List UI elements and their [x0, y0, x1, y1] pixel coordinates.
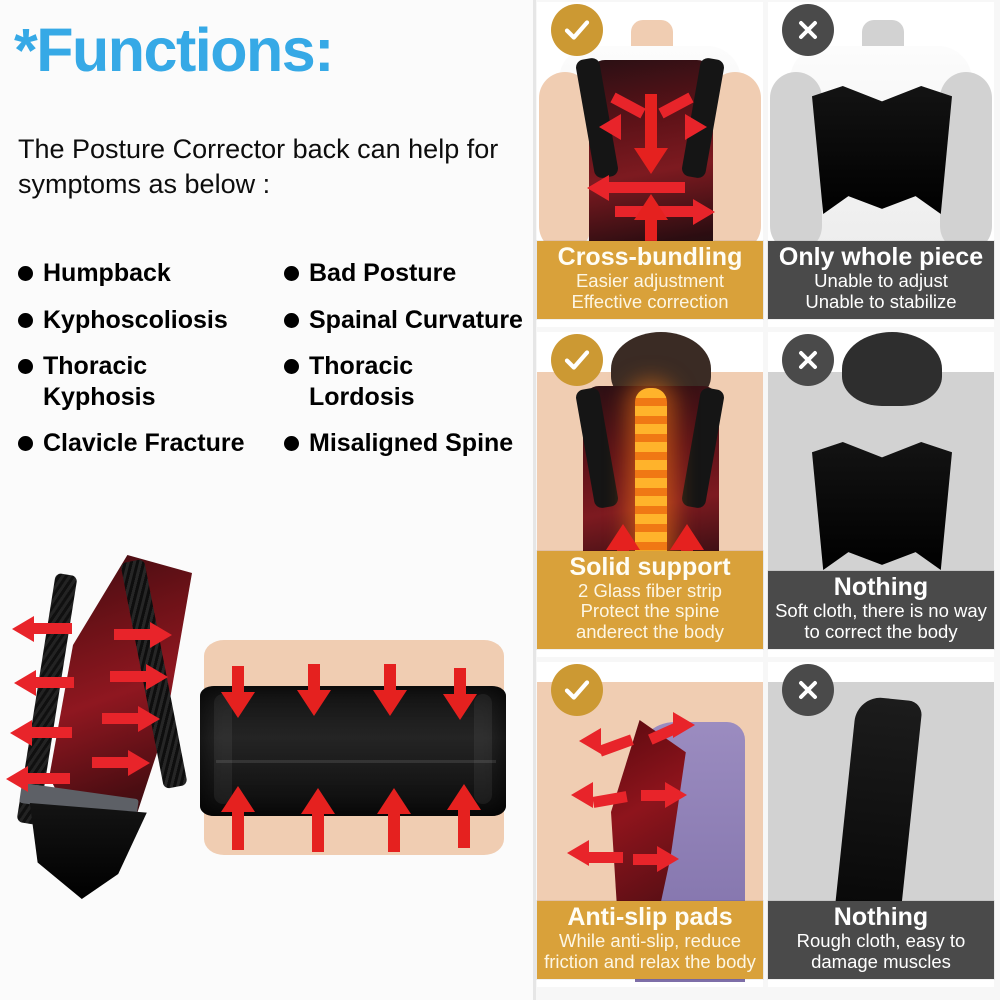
caption-title: Nothing	[774, 574, 988, 601]
caption-bad: Nothing Rough cloth, easy to damage musc…	[768, 901, 994, 979]
force-arrow-down-icon	[221, 692, 255, 718]
comparison-row: Anti-slip pads While anti-slip, reduce f…	[537, 662, 1000, 987]
caption-title: Solid support	[543, 554, 757, 581]
caption-title: Cross-bundling	[543, 244, 757, 271]
belt-seam	[216, 760, 496, 763]
comparison-cell-bad[interactable]: Nothing Rough cloth, easy to damage musc…	[768, 662, 994, 987]
force-arrow-up-icon	[606, 524, 640, 550]
arrow-tail	[645, 94, 657, 156]
symptom-item-clavicle-fracture: Clavicle Fracture	[8, 428, 280, 459]
arrow-tail	[589, 852, 623, 863]
force-arrow-left-icon	[6, 766, 28, 792]
bullet-dot-icon	[284, 266, 299, 281]
symptom-item-thoracic-lordosis: Thoracic Lordosis	[280, 351, 536, 412]
symptom-label: Misaligned Spine	[309, 428, 513, 459]
force-arrow-left-icon	[587, 175, 609, 201]
caption-lines: While anti-slip, reduce friction and rel…	[543, 931, 757, 972]
check-circle-icon	[551, 664, 603, 716]
bullet-dot-icon	[18, 266, 33, 281]
force-arrow-down-icon	[373, 690, 407, 716]
symptom-list: Humpback Bad Posture Kyphoscoliosis Spai…	[8, 258, 536, 459]
caption-good: Cross-bundling Easier adjustment Effecti…	[537, 241, 763, 319]
force-arrow-down-icon	[443, 694, 477, 720]
x-circle-icon	[782, 4, 834, 56]
force-arrow-right-icon	[128, 750, 150, 776]
arrow-tail	[232, 810, 244, 850]
force-arrow-right-icon	[657, 846, 679, 872]
caption-good: Anti-slip pads While anti-slip, reduce f…	[537, 901, 763, 979]
arrow-tail	[458, 808, 470, 848]
symptom-label: Kyphoscoliosis	[43, 305, 228, 336]
force-arrow-up-icon	[221, 786, 255, 812]
force-arrow-left-icon	[567, 840, 589, 866]
force-arrow-up-icon	[670, 524, 704, 550]
force-arrow-left-icon	[14, 670, 36, 696]
caption-title: Anti-slip pads	[543, 904, 757, 931]
caption-title: Nothing	[774, 904, 988, 931]
check-circle-icon	[551, 334, 603, 386]
symptom-label: Clavicle Fracture	[43, 428, 245, 459]
force-arrow-up-icon	[301, 788, 335, 814]
force-arrow-right-icon	[665, 782, 687, 808]
infographic-page: *Functions: The Posture Corrector back c…	[0, 0, 1000, 1000]
soft-cloth-brace-shape	[812, 442, 952, 570]
force-arrow-down-icon	[634, 148, 668, 174]
force-arrow-right-icon	[138, 706, 160, 732]
force-arrow-left-icon	[579, 728, 601, 754]
arrow-tail	[388, 812, 400, 852]
caption-lines: Rough cloth, easy to damage muscles	[774, 931, 988, 972]
column-divider	[533, 0, 536, 1000]
arrow-tail	[609, 182, 685, 193]
comparison-cell-bad[interactable]: Only whole piece Unable to adjust Unable…	[768, 2, 994, 327]
force-arrow-up-icon	[634, 194, 668, 220]
comparison-row: Solid support 2 Glass fiber strip Protec…	[537, 332, 1000, 657]
one-piece-brace-shape	[812, 86, 952, 214]
arrow-tail	[34, 623, 72, 634]
x-circle-icon	[782, 664, 834, 716]
force-arrow-right-icon	[685, 114, 707, 140]
force-arrow-right-icon	[146, 664, 168, 690]
check-circle-icon	[551, 4, 603, 56]
comparison-cell-good[interactable]: Anti-slip pads While anti-slip, reduce f…	[537, 662, 763, 987]
symptom-label: Spainal Curvature	[309, 305, 523, 336]
symptom-item-thoracic-kyphosis: Thoracic Kyphosis	[8, 351, 280, 412]
force-arrow-left-icon	[571, 782, 593, 808]
bullet-dot-icon	[284, 359, 299, 374]
symptom-item-spainal-curvature: Spainal Curvature	[280, 305, 536, 336]
force-arrow-right-icon	[673, 712, 695, 738]
bullet-dot-icon	[284, 436, 299, 451]
product-photo-waist-belt	[196, 640, 516, 855]
symptom-label: Thoracic Kyphosis	[43, 351, 156, 412]
caption-title: Only whole piece	[774, 244, 988, 271]
x-circle-icon	[782, 334, 834, 386]
arrow-tail	[102, 713, 140, 724]
arrow-tail	[114, 629, 152, 640]
caption-lines: Soft cloth, there is no way to correct t…	[774, 601, 988, 642]
symptom-label: Thoracic Lordosis	[309, 351, 415, 412]
caption-good: Solid support 2 Glass fiber strip Protec…	[537, 551, 763, 649]
subtitle-text: The Posture Corrector back can help for …	[18, 132, 538, 202]
comparison-grid: Cross-bundling Easier adjustment Effecti…	[537, 0, 1000, 1000]
arrow-tail	[28, 773, 70, 784]
force-arrow-up-icon	[447, 784, 481, 810]
symptom-item-misaligned-spine: Misaligned Spine	[280, 428, 536, 459]
comparison-row: Cross-bundling Easier adjustment Effecti…	[537, 2, 1000, 327]
force-arrow-left-icon	[10, 720, 32, 746]
force-arrow-right-icon	[150, 622, 172, 648]
caption-bad: Nothing Soft cloth, there is no way to c…	[768, 571, 994, 649]
bullet-dot-icon	[18, 313, 33, 328]
force-arrow-down-icon	[297, 690, 331, 716]
functions-panel: *Functions: The Posture Corrector back c…	[0, 0, 534, 1000]
comparison-cell-good[interactable]: Cross-bundling Easier adjustment Effecti…	[537, 2, 763, 327]
comparison-cell-bad[interactable]: Nothing Soft cloth, there is no way to c…	[768, 332, 994, 657]
caption-lines: Unable to adjust Unable to stabilize	[774, 271, 988, 312]
bullet-dot-icon	[18, 436, 33, 451]
arrow-tail	[92, 757, 130, 768]
caption-lines: 2 Glass fiber strip Protect the spine an…	[543, 581, 757, 642]
symptom-item-kyphoscoliosis: Kyphoscoliosis	[8, 305, 280, 336]
comparison-cell-good[interactable]: Solid support 2 Glass fiber strip Protec…	[537, 332, 763, 657]
bullet-dot-icon	[284, 313, 299, 328]
force-arrow-left-icon	[12, 616, 34, 642]
arrow-tail	[32, 727, 72, 738]
head-shape	[842, 332, 942, 406]
symptom-item-bad-posture: Bad Posture	[280, 258, 536, 289]
arrow-tail	[110, 671, 148, 682]
page-title: *Functions:	[14, 20, 333, 81]
symptom-label: Bad Posture	[309, 258, 456, 289]
caption-bad: Only whole piece Unable to adjust Unable…	[768, 241, 994, 319]
arrow-tail	[312, 812, 324, 852]
symptom-label: Humpback	[43, 258, 171, 289]
force-arrow-right-icon	[693, 199, 715, 225]
brace-lower-section	[22, 803, 152, 899]
force-arrow-up-icon	[377, 788, 411, 814]
arrow-tail	[36, 677, 74, 688]
bullet-dot-icon	[18, 359, 33, 374]
caption-lines: Easier adjustment Effective correction	[543, 271, 757, 312]
symptom-item-humpback: Humpback	[8, 258, 280, 289]
force-arrow-left-icon	[599, 114, 621, 140]
